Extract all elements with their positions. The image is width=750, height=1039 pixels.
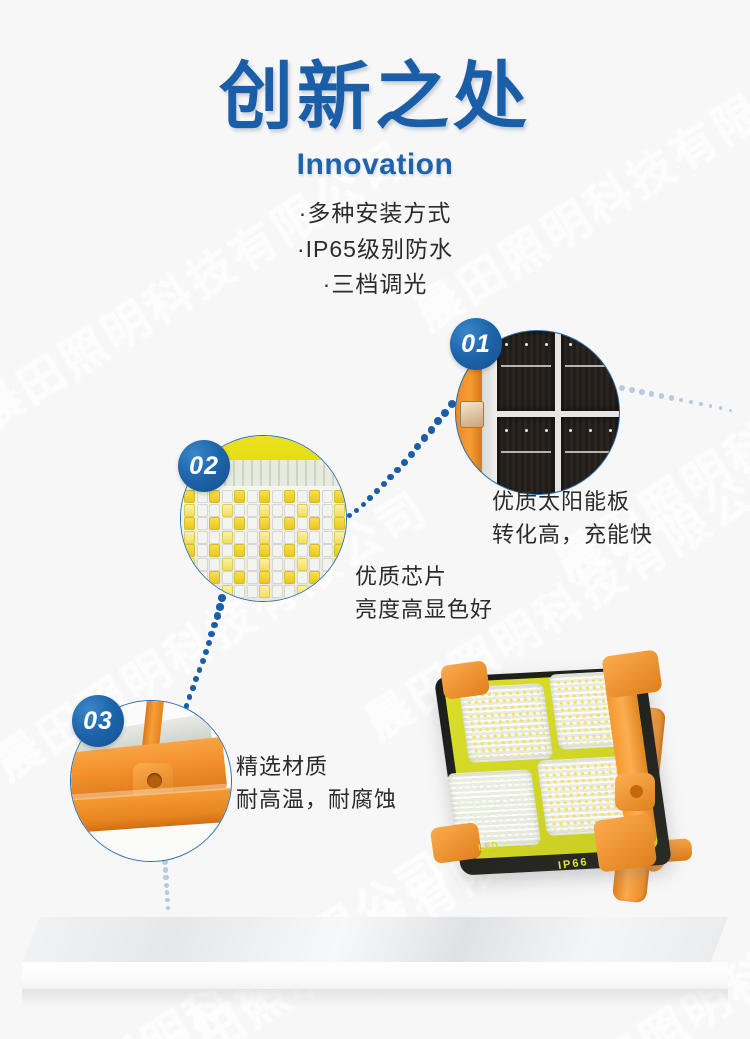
infographic-canvas: 晨田照明科技有限公司 晨田照明科技有限公司 晨田照明科技有限公司 晨田照明科技有… <box>0 0 750 1039</box>
led-chip <box>247 490 258 503</box>
led-chip <box>322 517 333 530</box>
led-chip <box>259 517 270 530</box>
display-shelf <box>22 917 728 997</box>
led-chip <box>184 544 195 557</box>
connector-dot <box>689 400 693 404</box>
led-chip <box>209 504 220 517</box>
bullet-item: ·IP65级别防水 <box>0 232 750 268</box>
connector-dot <box>190 685 195 690</box>
led-chip <box>222 558 233 571</box>
connector-dot <box>428 426 436 434</box>
led-chip <box>197 571 208 584</box>
caption-line: 亮度高显色好 <box>355 593 493 626</box>
feature-bullet-list: ·多种安装方式 ·IP65级别防水 ·三档调光 <box>0 196 750 303</box>
led-chip <box>272 517 283 530</box>
shelf-front <box>22 962 728 990</box>
led-chip <box>272 585 283 598</box>
feature-caption-02: 优质芯片 亮度高显色好 <box>355 560 493 626</box>
led-chip <box>197 504 208 517</box>
connector-dot <box>387 474 393 480</box>
connector-dot <box>619 385 626 392</box>
caption-line: 精选材质 <box>236 750 397 783</box>
feature-caption-03: 精选材质 耐高温，耐腐蚀 <box>236 750 397 816</box>
caption-line: 优质芯片 <box>355 560 493 593</box>
led-chip <box>234 544 245 557</box>
led-chip <box>284 558 295 571</box>
connector-dot <box>669 395 674 400</box>
connector-dot <box>208 631 215 638</box>
badge-03: 03 <box>72 695 124 747</box>
led-chip <box>297 490 308 503</box>
led-chip <box>247 544 258 557</box>
connector-dot <box>374 488 380 494</box>
led-chip <box>297 558 308 571</box>
led-chip <box>247 558 258 571</box>
led-chip <box>259 544 270 557</box>
led-chip <box>334 490 345 503</box>
led-chip <box>272 504 283 517</box>
led-chip <box>297 504 308 517</box>
led-chip <box>209 544 220 557</box>
led-chip <box>322 504 333 517</box>
led-chip <box>234 517 245 530</box>
connector-dot <box>187 694 192 699</box>
product-image: LED IP66 <box>430 655 730 895</box>
connector-dot <box>699 402 703 406</box>
connector-dot <box>354 508 359 513</box>
led-chip <box>234 558 245 571</box>
led-chip <box>209 585 220 598</box>
page-subtitle: Innovation <box>0 148 750 182</box>
led-chip <box>322 531 333 544</box>
led-chip <box>247 504 258 517</box>
connector-dot <box>165 890 170 895</box>
led-chip <box>222 517 233 530</box>
connector-dot <box>214 612 221 619</box>
led-chip <box>334 571 345 584</box>
connector-dot <box>163 875 168 880</box>
bullet-item: ·多种安装方式 <box>0 196 750 232</box>
connector-dot <box>719 406 722 409</box>
led-chip <box>209 558 220 571</box>
led-chip <box>284 504 295 517</box>
connector-dot <box>414 443 421 450</box>
led-chip <box>259 558 270 571</box>
led-chip <box>234 531 245 544</box>
connector-dot <box>659 393 664 398</box>
connector-dot <box>394 467 401 474</box>
led-chip <box>234 585 245 598</box>
led-chip <box>184 531 195 544</box>
shelf-shadow <box>22 989 728 1007</box>
led-chip <box>184 571 195 584</box>
led-chip <box>184 517 195 530</box>
led-chip <box>222 504 233 517</box>
led-chip <box>197 585 208 598</box>
connector-dot <box>211 622 218 629</box>
led-chip <box>259 490 270 503</box>
led-chip <box>209 490 220 503</box>
corner-bumper <box>430 822 483 864</box>
led-chip <box>222 585 233 598</box>
connector-dot <box>163 867 169 873</box>
led-chip <box>272 531 283 544</box>
connector-dot <box>408 451 415 458</box>
led-chip <box>184 490 195 503</box>
led-chip <box>222 490 233 503</box>
connector-dot <box>381 481 387 487</box>
led-chip <box>322 585 333 598</box>
connector-dot <box>166 906 170 910</box>
led-chip <box>309 490 320 503</box>
connector-dot <box>629 387 635 393</box>
connector-dot <box>165 898 169 902</box>
led-chip <box>272 558 283 571</box>
led-chip <box>222 571 233 584</box>
connector-dot <box>441 409 449 417</box>
led-chip <box>297 585 308 598</box>
connector-dot <box>401 459 408 466</box>
connector-dot <box>200 658 206 664</box>
led-chip <box>309 517 320 530</box>
connector-dot <box>639 389 645 395</box>
led-chip <box>259 504 270 517</box>
led-chip <box>259 531 270 544</box>
led-chip <box>272 490 283 503</box>
corner-bumper <box>601 649 662 698</box>
connector-dot <box>206 640 213 647</box>
led-chip <box>234 504 245 517</box>
led-chip <box>209 517 220 530</box>
led-chip <box>284 571 295 584</box>
caption-line: 耐高温，耐腐蚀 <box>236 783 397 816</box>
connector-dot <box>197 667 203 673</box>
led-chip <box>309 531 320 544</box>
led-chip <box>322 544 333 557</box>
led-chip <box>197 517 208 530</box>
page-title: 创新之处 <box>0 60 750 134</box>
led-chip <box>247 517 258 530</box>
caption-line: 优质太阳能板 <box>492 485 653 518</box>
led-chip <box>197 531 208 544</box>
led-chip <box>284 517 295 530</box>
led-chip <box>297 517 308 530</box>
feature-caption-01: 优质太阳能板 转化高，充能快 <box>492 485 653 551</box>
badge-01: 01 <box>450 318 502 370</box>
led-chip <box>247 531 258 544</box>
led-chip <box>322 558 333 571</box>
led-chip <box>247 585 258 598</box>
led-chip <box>234 490 245 503</box>
led-chip <box>247 571 258 584</box>
led-chip <box>334 558 345 571</box>
led-chip <box>309 571 320 584</box>
led-chip <box>309 504 320 517</box>
led-chip <box>334 531 345 544</box>
led-chip <box>222 544 233 557</box>
led-chip <box>284 490 295 503</box>
connector-dot <box>193 676 199 682</box>
led-chip <box>209 571 220 584</box>
led-chip <box>309 585 320 598</box>
led-chip <box>309 544 320 557</box>
corner-bumper <box>440 660 490 700</box>
connector-dot <box>434 417 442 425</box>
led-chip <box>297 571 308 584</box>
led-chip <box>259 571 270 584</box>
led-chip <box>297 544 308 557</box>
connector-dot <box>203 649 209 655</box>
led-chip <box>222 531 233 544</box>
led-chip <box>197 544 208 557</box>
bullet-item: ·三档调光 <box>0 267 750 303</box>
connector-dot <box>164 883 169 888</box>
connector-dot <box>367 495 373 501</box>
led-chip <box>284 531 295 544</box>
led-chip <box>334 504 345 517</box>
led-chip <box>334 517 345 530</box>
led-chip <box>272 571 283 584</box>
badge-02: 02 <box>178 440 230 492</box>
connector-dot <box>421 434 428 441</box>
led-chip <box>184 504 195 517</box>
header-block: 创新之处 Innovation ·多种安装方式 ·IP65级别防水 ·三档调光 <box>0 60 750 303</box>
caption-line: 转化高，充能快 <box>492 518 653 551</box>
led-chip <box>184 558 195 571</box>
connector-dot <box>649 391 655 397</box>
power-button-icon <box>460 401 484 428</box>
led-chip <box>284 544 295 557</box>
led-chip <box>184 585 195 598</box>
connector-dot <box>709 404 713 408</box>
corner-bumper <box>593 813 658 873</box>
led-chip <box>284 585 295 598</box>
led-chip <box>322 490 333 503</box>
led-chip <box>259 585 270 598</box>
connector-dot <box>216 603 223 610</box>
connector-dot <box>361 502 366 507</box>
led-chip <box>309 558 320 571</box>
led-chip <box>334 544 345 557</box>
shelf-top <box>22 917 728 963</box>
led-chip <box>297 531 308 544</box>
hinge-pin <box>630 785 643 798</box>
connector-dot <box>679 398 684 403</box>
led-chip <box>234 571 245 584</box>
connector-dot <box>347 513 352 518</box>
led-chip <box>322 571 333 584</box>
led-chip <box>209 531 220 544</box>
connector-dot <box>729 409 732 412</box>
led-chip <box>272 544 283 557</box>
led-chip <box>334 585 345 598</box>
led-chip <box>197 558 208 571</box>
